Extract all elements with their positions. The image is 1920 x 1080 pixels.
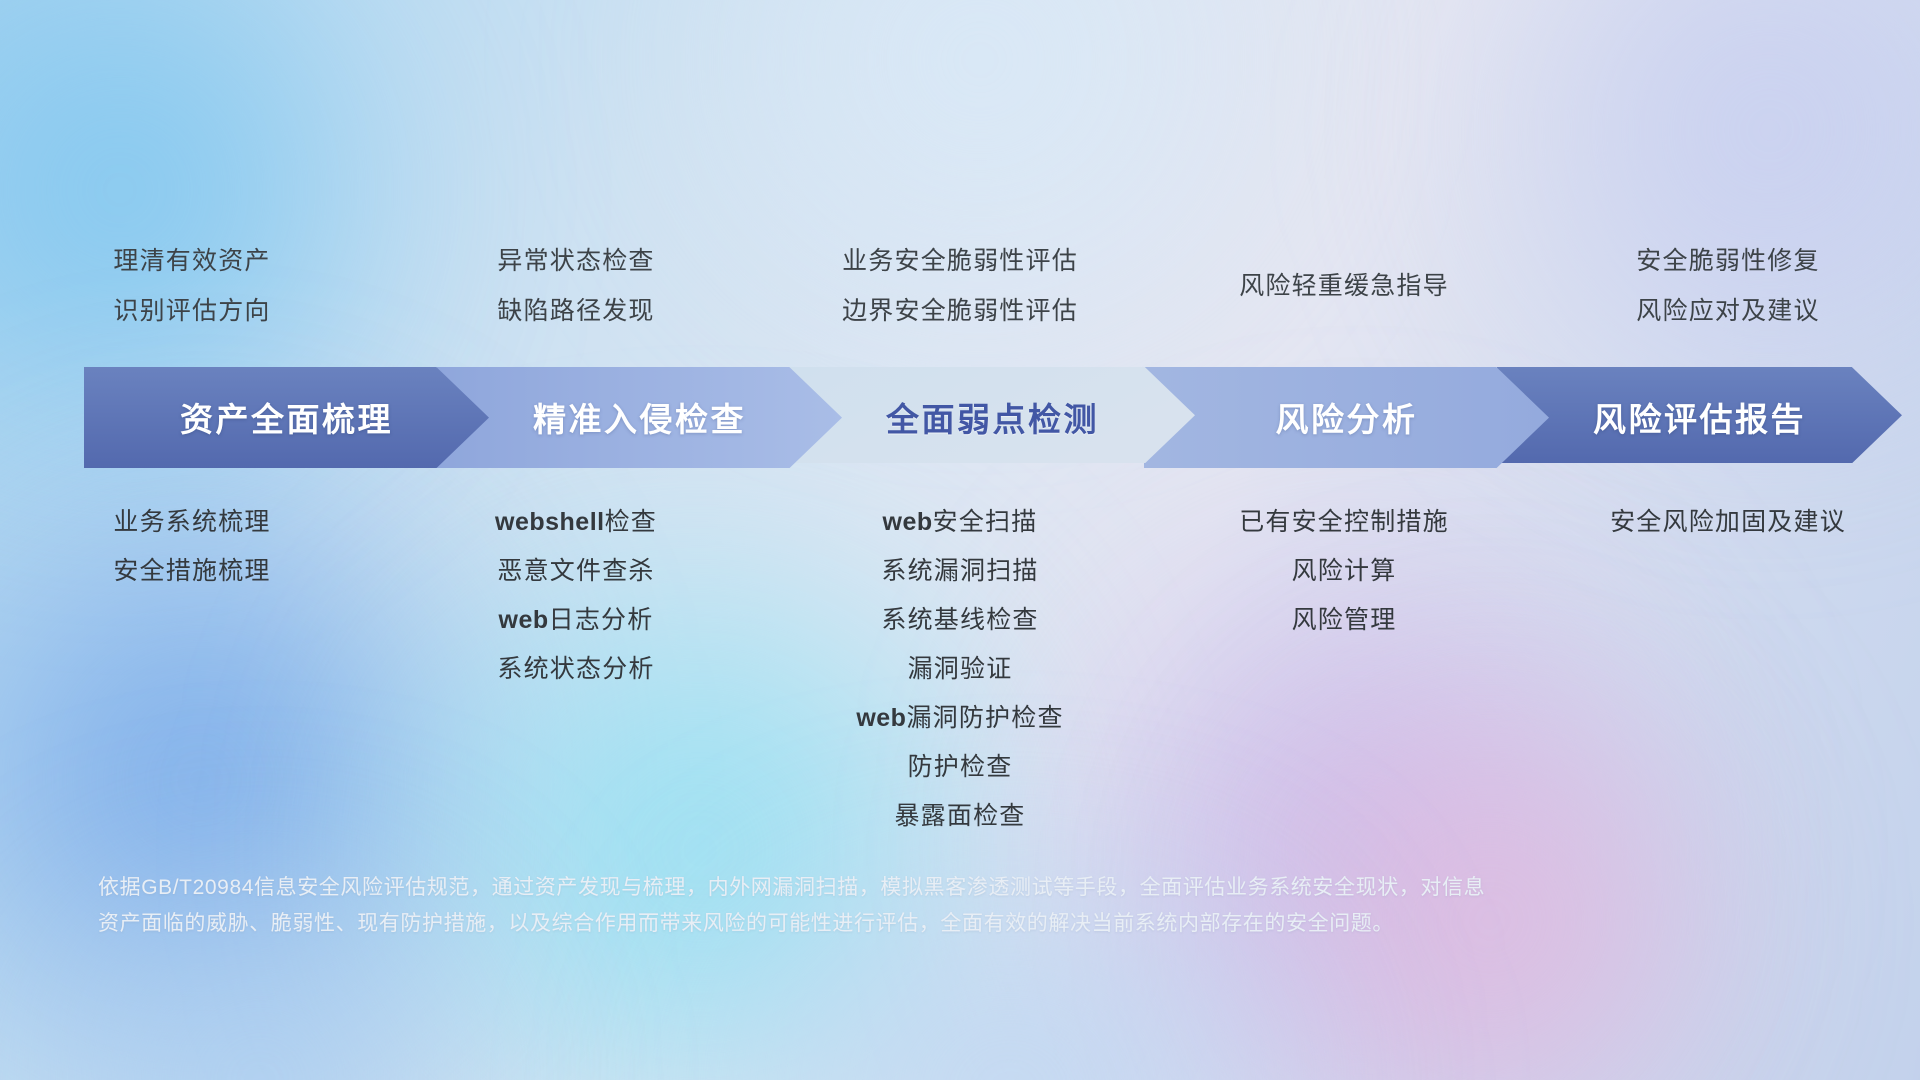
- detail-line: 业务系统梳理: [113, 498, 270, 547]
- detail-line: 风险计算: [1292, 547, 1397, 596]
- descriptor-line: 风险轻重缓急指导: [1239, 236, 1449, 336]
- detail-line: 安全措施梳理: [113, 547, 270, 596]
- detail-line: web日志分析: [499, 596, 654, 645]
- stage-chevron-5[interactable]: 风险评估报告: [1497, 367, 1902, 467]
- stage-title: 资产全面梳理: [180, 393, 393, 441]
- top-descriptors-stage-3: 业务安全脆弱性评估 边界安全脆弱性评估: [768, 236, 1152, 346]
- detail-line: 安全风险加固及建议: [1610, 498, 1846, 547]
- stage-chevron-4[interactable]: 风险分析: [1144, 367, 1549, 467]
- top-descriptor-row: 理清有效资产 识别评估方向 异常状态检查 缺陷路径发现 业务安全脆弱性评估 边界…: [0, 236, 1920, 346]
- descriptor-line: 理清有效资产: [113, 236, 270, 286]
- descriptor-line: 业务安全脆弱性评估: [842, 236, 1078, 286]
- descriptor-line: 风险应对及建议: [1636, 286, 1819, 336]
- detail-line: webshell检查: [495, 498, 657, 547]
- detail-line: 恶意文件查杀: [497, 547, 654, 596]
- stage-title: 风险评估报告: [1593, 393, 1806, 441]
- bottom-details-stage-5: 安全风险加固及建议: [1536, 498, 1920, 547]
- footer-line-1: 依据GB/T20984信息安全风险评估规范，通过资产发现与梳理，内外网漏洞扫描，…: [98, 870, 1618, 906]
- detail-line: 系统基线检查: [881, 596, 1038, 645]
- detail-line: 暴露面检查: [894, 792, 1025, 841]
- descriptor-line: 边界安全脆弱性评估: [842, 286, 1078, 336]
- top-descriptors-stage-4: 风险轻重缓急指导: [1152, 236, 1536, 346]
- detail-line: web安全扫描: [883, 498, 1038, 547]
- bottom-details-stage-4: 已有安全控制措施风险计算风险管理: [1152, 498, 1536, 645]
- detail-line: 漏洞验证: [908, 645, 1013, 694]
- bottom-details-stage-1: 业务系统梳理安全措施梳理: [0, 498, 384, 596]
- top-descriptors-stage-5: 安全脆弱性修复 风险应对及建议: [1536, 236, 1920, 346]
- bottom-details-stage-3: web安全扫描系统漏洞扫描系统基线检查漏洞验证web漏洞防护检查防护检查暴露面检…: [768, 498, 1152, 841]
- process-diagram: 理清有效资产 识别评估方向 异常状态检查 缺陷路径发现 业务安全脆弱性评估 边界…: [0, 0, 1920, 1080]
- stage-title: 全面弱点检测: [886, 393, 1099, 441]
- stage-chevron-3[interactable]: 全面弱点检测: [790, 367, 1195, 467]
- detail-line: 已有安全控制措施: [1239, 498, 1449, 547]
- stage-chevron-band: 资产全面梳理 精准入侵检查: [84, 367, 1850, 467]
- stage-chevron-1[interactable]: 资产全面梳理: [84, 367, 489, 467]
- bottom-detail-row: 业务系统梳理安全措施梳理 webshell检查恶意文件查杀web日志分析系统状态…: [0, 498, 1920, 841]
- descriptor-line: 缺陷路径发现: [497, 286, 654, 336]
- descriptor-line: 异常状态检查: [497, 236, 654, 286]
- stage-title: 风险分析: [1276, 393, 1418, 441]
- stage-chevron-2[interactable]: 精准入侵检查: [437, 367, 842, 467]
- footer-line-2: 资产面临的威胁、脆弱性、现有防护措施，以及综合作用而带来风险的可能性进行评估，全…: [98, 906, 1618, 942]
- detail-line: 风险管理: [1292, 596, 1397, 645]
- descriptor-line: 安全脆弱性修复: [1636, 236, 1819, 286]
- detail-line: 系统漏洞扫描: [881, 547, 1038, 596]
- detail-line: 系统状态分析: [497, 645, 654, 694]
- stage-title: 精准入侵检查: [533, 393, 746, 441]
- detail-line: 防护检查: [908, 743, 1013, 792]
- detail-line: web漏洞防护检查: [856, 694, 1063, 743]
- bottom-details-stage-2: webshell检查恶意文件查杀web日志分析系统状态分析: [384, 498, 768, 694]
- descriptor-line: 识别评估方向: [113, 286, 270, 336]
- top-descriptors-stage-1: 理清有效资产 识别评估方向: [0, 236, 384, 346]
- footer-description: 依据GB/T20984信息安全风险评估规范，通过资产发现与梳理，内外网漏洞扫描，…: [98, 870, 1618, 942]
- top-descriptors-stage-2: 异常状态检查 缺陷路径发现: [384, 236, 768, 346]
